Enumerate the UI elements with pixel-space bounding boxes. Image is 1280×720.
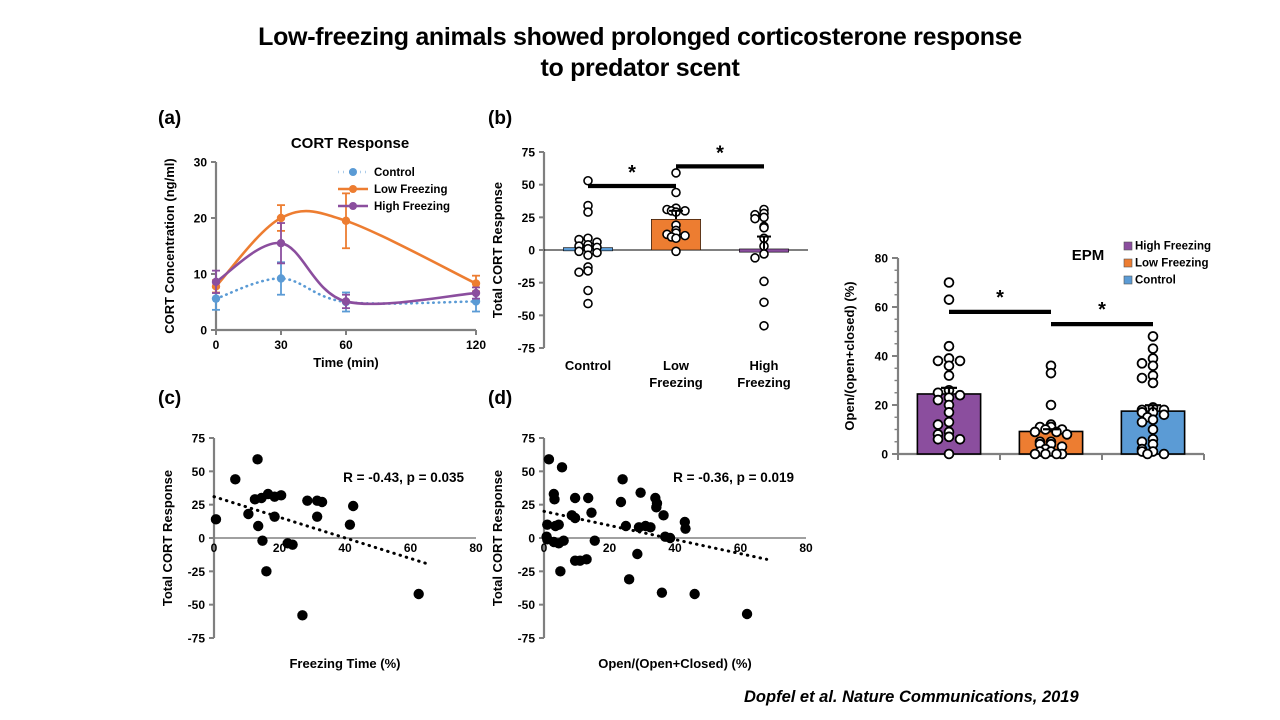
panel-b-scatter-point (760, 298, 768, 306)
panel-d-chart: -75-50-250255075020406080R = -0.36, p = … (488, 410, 818, 670)
epm-legend-swatch (1124, 242, 1132, 250)
panel-d-ylabel: Total CORT Response (490, 470, 505, 606)
panel-b-scatter-point (672, 169, 680, 177)
epm-scatter-point (945, 432, 954, 441)
panel-a: (a) CORT Response010203003060120Time (mi… (158, 108, 488, 380)
panel-b-scatter-point (672, 189, 680, 197)
panel-b-scatter-point (575, 268, 583, 276)
panel-c-datapoint (257, 535, 267, 545)
panel-c-datapoint (317, 497, 327, 507)
epm-legend-label: Low Freezing (1135, 258, 1208, 270)
panel-d-xlabel: Open/(Open+Closed) (%) (598, 656, 751, 671)
panel-c-x-tick: 60 (404, 541, 418, 555)
panel-b-scatter-point (575, 247, 583, 255)
epm-scatter-point (1138, 374, 1147, 383)
panel-d-y-tick: -25 (518, 565, 536, 579)
panel-c-xlabel: Freezing Time (%) (289, 656, 400, 671)
panel-b-scatter-point (751, 215, 759, 223)
panel-c-datapoint (243, 509, 253, 519)
panel-b-scatter-point (681, 232, 689, 240)
panel-c-datapoint (276, 490, 286, 500)
epm-scatter-point (1149, 332, 1158, 341)
epm-y-tick: 20 (875, 399, 889, 413)
panel-d-datapoint (645, 522, 655, 532)
panel-d: (d) -75-50-250255075020406080R = -0.36, … (488, 388, 818, 670)
panel-a-legend-label: Control (374, 167, 415, 179)
epm-title: EPM (1072, 247, 1105, 264)
epm-scatter-point (945, 278, 954, 287)
epm-scatter-point (1047, 401, 1056, 410)
epm-scatter-point (956, 435, 965, 444)
panel-d-datapoint (557, 462, 567, 472)
panel-d-y-tick: -75 (518, 632, 536, 646)
panel-a-y-tick: 0 (200, 324, 207, 338)
epm-chart: EPM020406080Open/(open+closed) (%)**High… (836, 232, 1236, 482)
panel-c-y-tick: -50 (188, 598, 206, 612)
panel-b-letter: (b) (488, 108, 818, 130)
epm-scatter-point (1149, 415, 1158, 424)
panel-d-datapoint (616, 497, 626, 507)
panel-d-datapoint (581, 554, 591, 564)
panel-b-y-tick: 25 (522, 211, 536, 225)
epm-scatter-point (1031, 428, 1040, 437)
panel-a-legend-marker (349, 168, 357, 176)
figure-title-line2: to predator scent (0, 53, 1280, 84)
epm-y-tick: 60 (875, 301, 889, 315)
panel-d-datapoint (549, 494, 559, 504)
panel-d-y-tick: 25 (522, 498, 536, 512)
panel-b-x-category: High (750, 358, 779, 373)
epm-legend-swatch (1124, 259, 1132, 267)
epm-legend-label: High Freezing (1135, 241, 1211, 253)
epm-scatter-point (945, 418, 954, 427)
panel-a-datapoint (277, 214, 285, 222)
epm-scatter-point (945, 371, 954, 380)
epm-y-tick: 0 (881, 448, 888, 462)
citation-text: Dopfel et al. Nature Communications, 201… (744, 688, 1079, 707)
panel-a-datapoint (472, 279, 480, 287)
panel-a-letter: (a) (158, 108, 488, 130)
panel-a-datapoint (212, 278, 220, 286)
epm-scatter-point (945, 450, 954, 459)
panel-c-y-tick: 75 (192, 432, 206, 446)
epm-y-tick: 80 (875, 252, 889, 266)
panel-b-y-tick: 75 (522, 146, 536, 160)
panel-d-datapoint (651, 502, 661, 512)
panel-b-scatter-point (584, 208, 592, 216)
epm-scatter-point (1052, 450, 1061, 459)
panel-d-datapoint (544, 454, 554, 464)
panel-c-y-tick: -25 (188, 565, 206, 579)
panel-c-datapoint (297, 610, 307, 620)
panel-c-datapoint (230, 474, 240, 484)
panel-a-legend-label: Low Freezing (374, 184, 447, 196)
epm-scatter-point (945, 408, 954, 417)
panel-d-y-tick: 50 (522, 465, 536, 479)
panel-b-ylabel: Total CORT Response (490, 182, 505, 318)
epm-significance-star: * (1098, 299, 1106, 321)
epm-scatter-point (945, 361, 954, 370)
panel-b-y-tick: -75 (518, 342, 536, 356)
panel-b-scatter-point (584, 177, 592, 185)
panel-a-datapoint (472, 289, 480, 297)
panel-a-ylabel: CORT Concentration (ng/ml) (162, 158, 177, 334)
panel-a-title: CORT Response (291, 135, 409, 152)
panel-a-y-tick: 20 (194, 212, 208, 226)
panel-b-scatter-point (593, 249, 601, 257)
panel-b-y-tick: 50 (522, 178, 536, 192)
panel-d-datapoint (570, 513, 580, 523)
panel-d-datapoint (742, 609, 752, 619)
panel-d-datapoint (665, 533, 675, 543)
panel-d-datapoint (570, 493, 580, 503)
panel-a-xlabel: Time (min) (313, 355, 379, 370)
panel-d-datapoint (621, 521, 631, 531)
panel-b-y-tick: -25 (518, 276, 536, 290)
figure-title: Low-freezing animals showed prolonged co… (0, 22, 1280, 83)
panel-b-scatter-point (760, 277, 768, 285)
panel-c-letter: (c) (158, 388, 488, 410)
panel-b-scatter-point (760, 213, 768, 221)
panel-d-datapoint (657, 587, 667, 597)
panel-a-chart: CORT Response010203003060120Time (min)CO… (158, 130, 488, 380)
panel-b-scatter-point (760, 224, 768, 232)
panel-d-datapoint (632, 549, 642, 559)
epm-scatter-point (934, 420, 943, 429)
panel-d-letter: (d) (488, 388, 818, 410)
panel-c-x-tick: 40 (338, 541, 352, 555)
panel-d-x-tick: 20 (603, 541, 617, 555)
panel-b-y-tick: -50 (518, 309, 536, 323)
panel-d-y-tick: -50 (518, 598, 536, 612)
panel-c-x-tick: 80 (469, 541, 483, 555)
panel-d-datapoint (583, 493, 593, 503)
panel-d-datapoint (555, 566, 565, 576)
epm-scatter-point (1149, 379, 1158, 388)
panel-d-datapoint (680, 523, 690, 533)
epm-ylabel: Open/(open+closed) (%) (842, 281, 857, 430)
panel-c-datapoint (287, 539, 297, 549)
panel-d-datapoint (586, 507, 596, 517)
panel-b-x-category: Control (565, 358, 611, 373)
epm-scatter-point (934, 396, 943, 405)
epm-scatter-point (1041, 450, 1050, 459)
epm-legend-label: Control (1135, 275, 1176, 287)
panel-d-datapoint (617, 474, 627, 484)
epm-scatter-point (1149, 344, 1158, 353)
panel-a-legend-label: High Freezing (374, 201, 450, 213)
panel-c-datapoint (345, 519, 355, 529)
epm-scatter-point (1149, 361, 1158, 370)
panel-b-scatter-point (672, 247, 680, 255)
panel-a-x-tick: 0 (213, 338, 220, 352)
epm-scatter-point (945, 342, 954, 351)
panel-b-scatter-point (584, 300, 592, 308)
epm-significance-star: * (996, 287, 1004, 309)
epm-scatter-point (1138, 359, 1147, 368)
epm-scatter-point (934, 357, 943, 366)
panel-b-y-tick: 0 (528, 244, 535, 258)
panel-c-datapoint (211, 514, 221, 524)
panel-c-datapoint (348, 501, 358, 511)
epm-legend-swatch (1124, 276, 1132, 284)
panel-c-y-tick: -75 (188, 632, 206, 646)
panel-c-y-tick: 25 (192, 498, 206, 512)
panel-c-annotation: R = -0.43, p = 0.035 (343, 470, 464, 485)
panel-a-datapoint (212, 294, 220, 302)
panel-a-legend-marker (349, 202, 357, 210)
panel-c-datapoint (302, 495, 312, 505)
panel-b: (b) -75-50-250255075Total CORT Response*… (488, 108, 818, 395)
figure-title-line1: Low-freezing animals showed prolonged co… (258, 23, 1022, 51)
panel-a-datapoint (277, 239, 285, 247)
panel-c-y-tick: 0 (198, 532, 205, 546)
panel-b-significance-star: * (628, 162, 636, 184)
panel-c-datapoint (413, 589, 423, 599)
panel-a-x-tick: 30 (274, 338, 288, 352)
panel-epm: EPM020406080Open/(open+closed) (%)**High… (836, 232, 1236, 482)
panel-d-annotation: R = -0.36, p = 0.019 (673, 470, 794, 485)
panel-b-scatter-point (760, 322, 768, 330)
epm-scatter-point (956, 357, 965, 366)
panel-d-datapoint (689, 589, 699, 599)
panel-d-y-tick: 75 (522, 432, 536, 446)
epm-scatter-point (956, 391, 965, 400)
panel-d-datapoint (590, 535, 600, 545)
panel-b-scatter-point (584, 267, 592, 275)
panel-c-x-tick: 0 (211, 541, 218, 555)
panel-b-significance-star: * (716, 142, 724, 164)
panel-b-x-category: Low (663, 358, 690, 373)
epm-scatter-point (934, 435, 943, 444)
panel-d-datapoint (624, 574, 634, 584)
panel-c-ylabel: Total CORT Response (160, 470, 175, 606)
epm-scatter-point (1031, 450, 1040, 459)
epm-scatter-point (1143, 450, 1152, 459)
panel-a-datapoint (277, 274, 285, 282)
panel-c-datapoint (269, 511, 279, 521)
panel-a-x-tick: 120 (466, 338, 486, 352)
epm-scatter-point (1138, 418, 1147, 427)
panel-a-legend-marker (349, 185, 357, 193)
panel-a-datapoint (342, 217, 350, 225)
epm-scatter-point (1047, 369, 1056, 378)
panel-a-y-tick: 10 (194, 268, 208, 282)
panel-a-datapoint (342, 297, 350, 305)
epm-scatter-point (945, 295, 954, 304)
epm-scatter-point (1160, 450, 1169, 459)
panel-b-scatter-point (584, 251, 592, 259)
epm-y-tick: 40 (875, 350, 889, 364)
panel-c-y-tick: 50 (192, 465, 206, 479)
panel-b-scatter-point (672, 234, 680, 242)
panel-c-datapoint (312, 511, 322, 521)
panel-c-datapoint (252, 454, 262, 464)
panel-a-y-tick: 30 (194, 156, 208, 170)
epm-scatter-point (1149, 425, 1158, 434)
panel-d-datapoint (658, 510, 668, 520)
panel-b-scatter-point (760, 250, 768, 258)
panel-b-scatter-point (584, 287, 592, 295)
panel-d-datapoint (635, 487, 645, 497)
panel-c-datapoint (253, 521, 263, 531)
panel-b-chart: -75-50-250255075Total CORT Response**Con… (488, 130, 818, 395)
panel-c: (c) -75-50-250255075020406080R = -0.43, … (158, 388, 488, 670)
panel-d-y-tick: 0 (528, 532, 535, 546)
panel-c-datapoint (261, 566, 271, 576)
panel-d-x-tick: 80 (799, 541, 813, 555)
panel-d-datapoint (558, 535, 568, 545)
panel-d-datapoint (554, 519, 564, 529)
panel-a-x-tick: 60 (339, 338, 353, 352)
epm-scatter-point (1063, 430, 1072, 439)
epm-scatter-point (1160, 410, 1169, 419)
panel-c-chart: -75-50-250255075020406080R = -0.43, p = … (158, 410, 488, 670)
panel-b-scatter-point (751, 254, 759, 262)
